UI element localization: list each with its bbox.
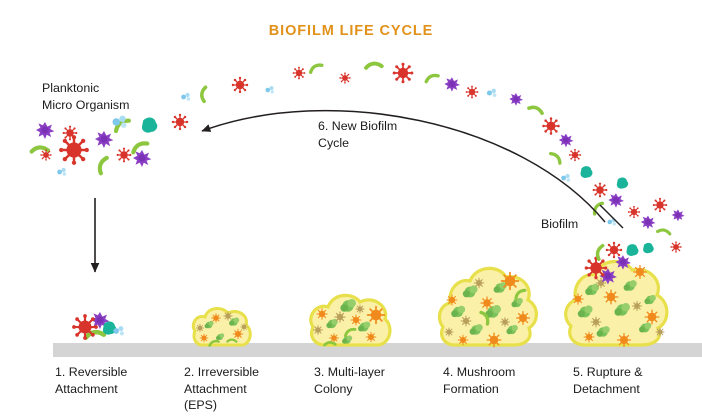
planktonic-organism-label: Planktonic Micro Organism [42, 80, 129, 113]
stage-4-mushroom [439, 268, 536, 346]
new-biofilm-cycle-label: 6. New Biofilm Cycle [318, 118, 397, 151]
diagram-artwork [0, 0, 702, 416]
stage-label-rupture-detachment: 5. Rupture & Detachment [573, 364, 643, 397]
stage-2-eps-colony [193, 308, 250, 345]
dispersed-microbes-arc [181, 62, 684, 253]
stage-label-mushroom-formation: 4. Mushroom Formation [443, 364, 515, 397]
stage-label-reversible-attachment: 1. Reversible Attachment [55, 364, 127, 397]
new-cycle-arrow [202, 111, 605, 222]
stage-label-multi-layer-colony: 3. Multi-layer Colony [314, 364, 385, 397]
biofilm-label: Biofilm [541, 216, 578, 233]
biofilm-life-cycle-diagram: BIOFILM LIFE CYCLE [0, 0, 702, 416]
biofilm-leader-line [600, 205, 623, 228]
stage-5-rupture [566, 242, 667, 347]
stage-1-cluster [72, 312, 124, 340]
stage-label-irreversible-attachment: 2. Irreversible Attachment (EPS) [184, 364, 259, 414]
planktonic-microbe-cloud [32, 114, 189, 176]
stage-3-colony [311, 295, 390, 346]
